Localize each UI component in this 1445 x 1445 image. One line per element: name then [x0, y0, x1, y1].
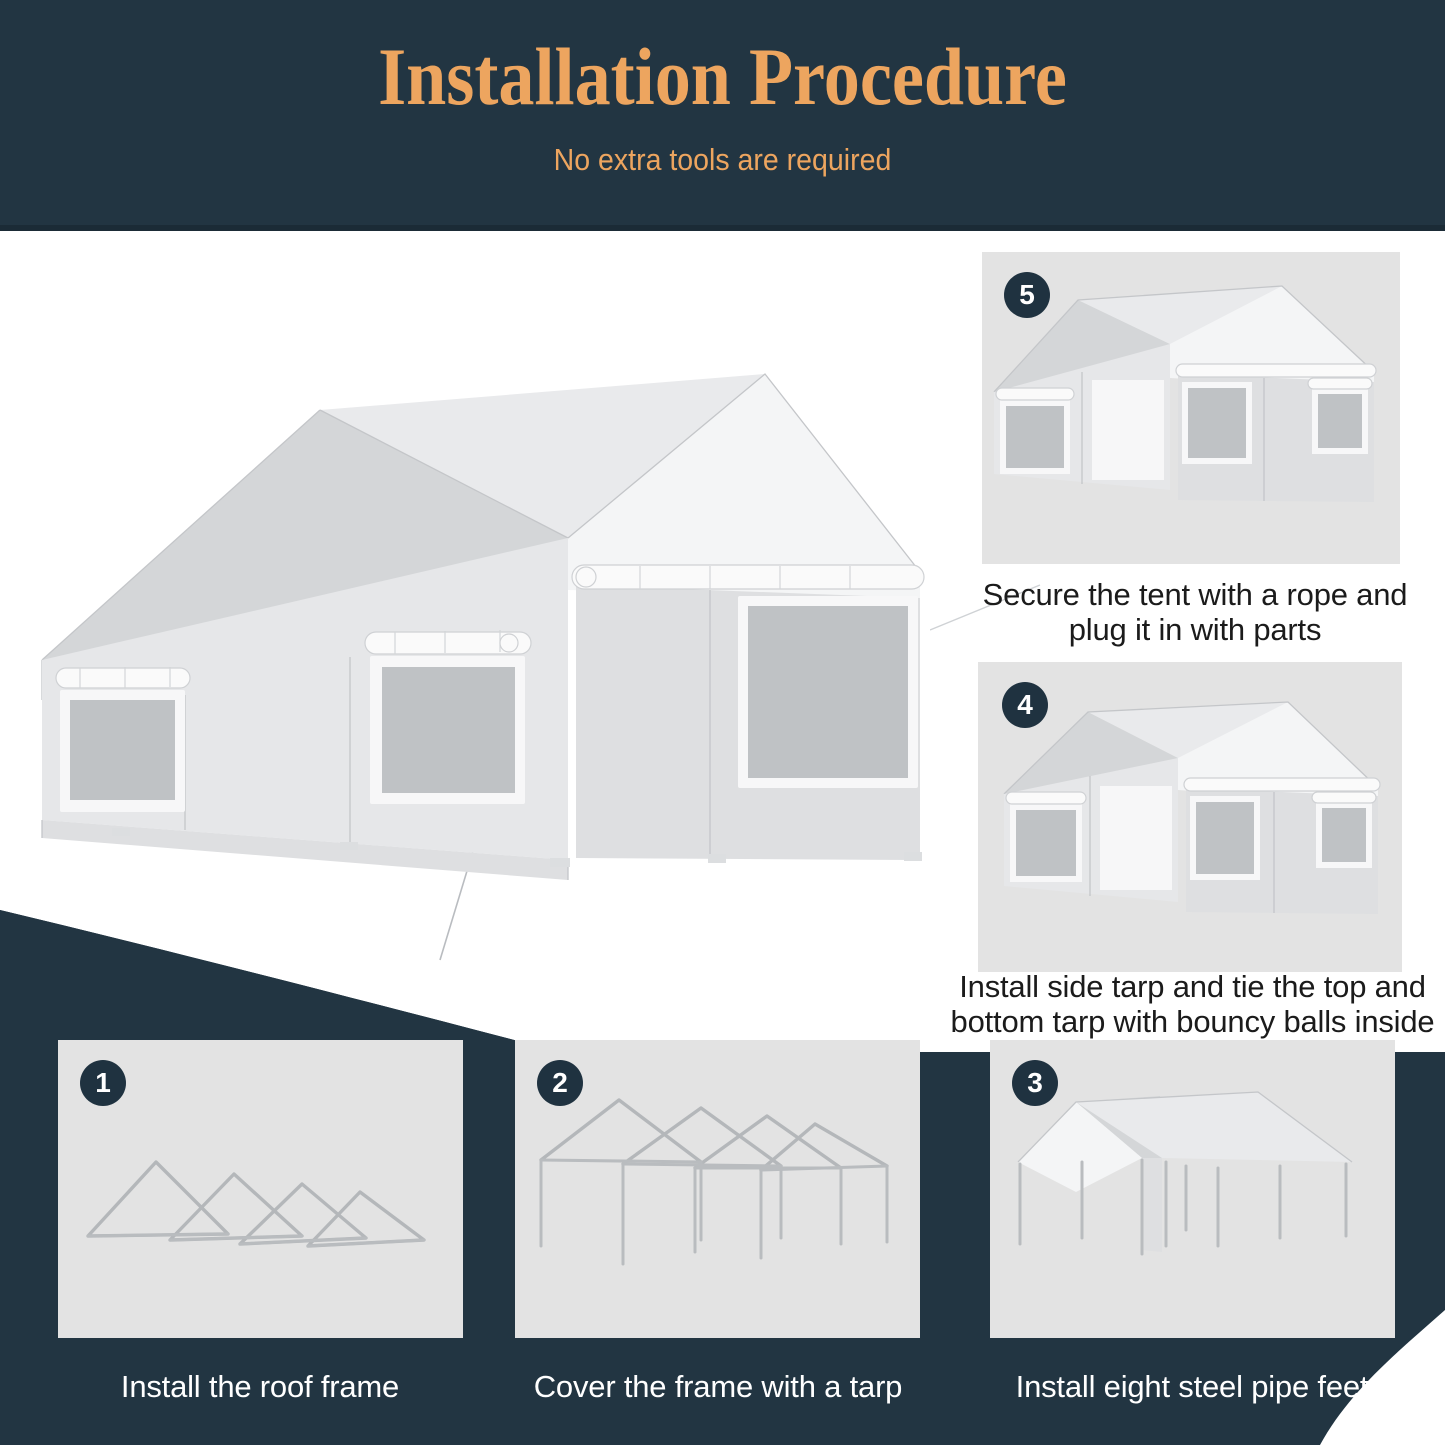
page-subtitle: No extra tools are required [58, 142, 1387, 178]
step-panel-2: 2 [515, 1040, 920, 1338]
step-caption-2: Cover the frame with a tarp [498, 1370, 938, 1405]
header-bottom-edge [0, 225, 1445, 231]
step-panel-1: 1 [58, 1040, 463, 1338]
installation-procedure-page: Installation Procedure No extra tools ar… [0, 0, 1445, 1445]
step-caption-3: Install eight steel pipe feet [972, 1370, 1412, 1405]
step-badge-2: 2 [537, 1060, 583, 1106]
step-caption-1: Install the roof frame [40, 1370, 480, 1405]
step-caption-4: Install side tarp and tie the top and bo… [940, 970, 1445, 1039]
step-badge-3: 3 [1012, 1060, 1058, 1106]
step-panel-3: 3 [990, 1040, 1395, 1338]
step-caption-5: Secure the tent with a rope and plug it … [960, 578, 1430, 647]
step-badge-4: 4 [1002, 682, 1048, 728]
step-badge-1: 1 [80, 1060, 126, 1106]
step-panel-5: 5 [982, 252, 1400, 564]
step-badge-5: 5 [1004, 272, 1050, 318]
hero-tent-illustration [20, 360, 970, 1000]
page-title: Installation Procedure [87, 36, 1359, 118]
page-header: Installation Procedure No extra tools ar… [0, 0, 1445, 231]
step-panel-4: 4 [978, 662, 1402, 972]
